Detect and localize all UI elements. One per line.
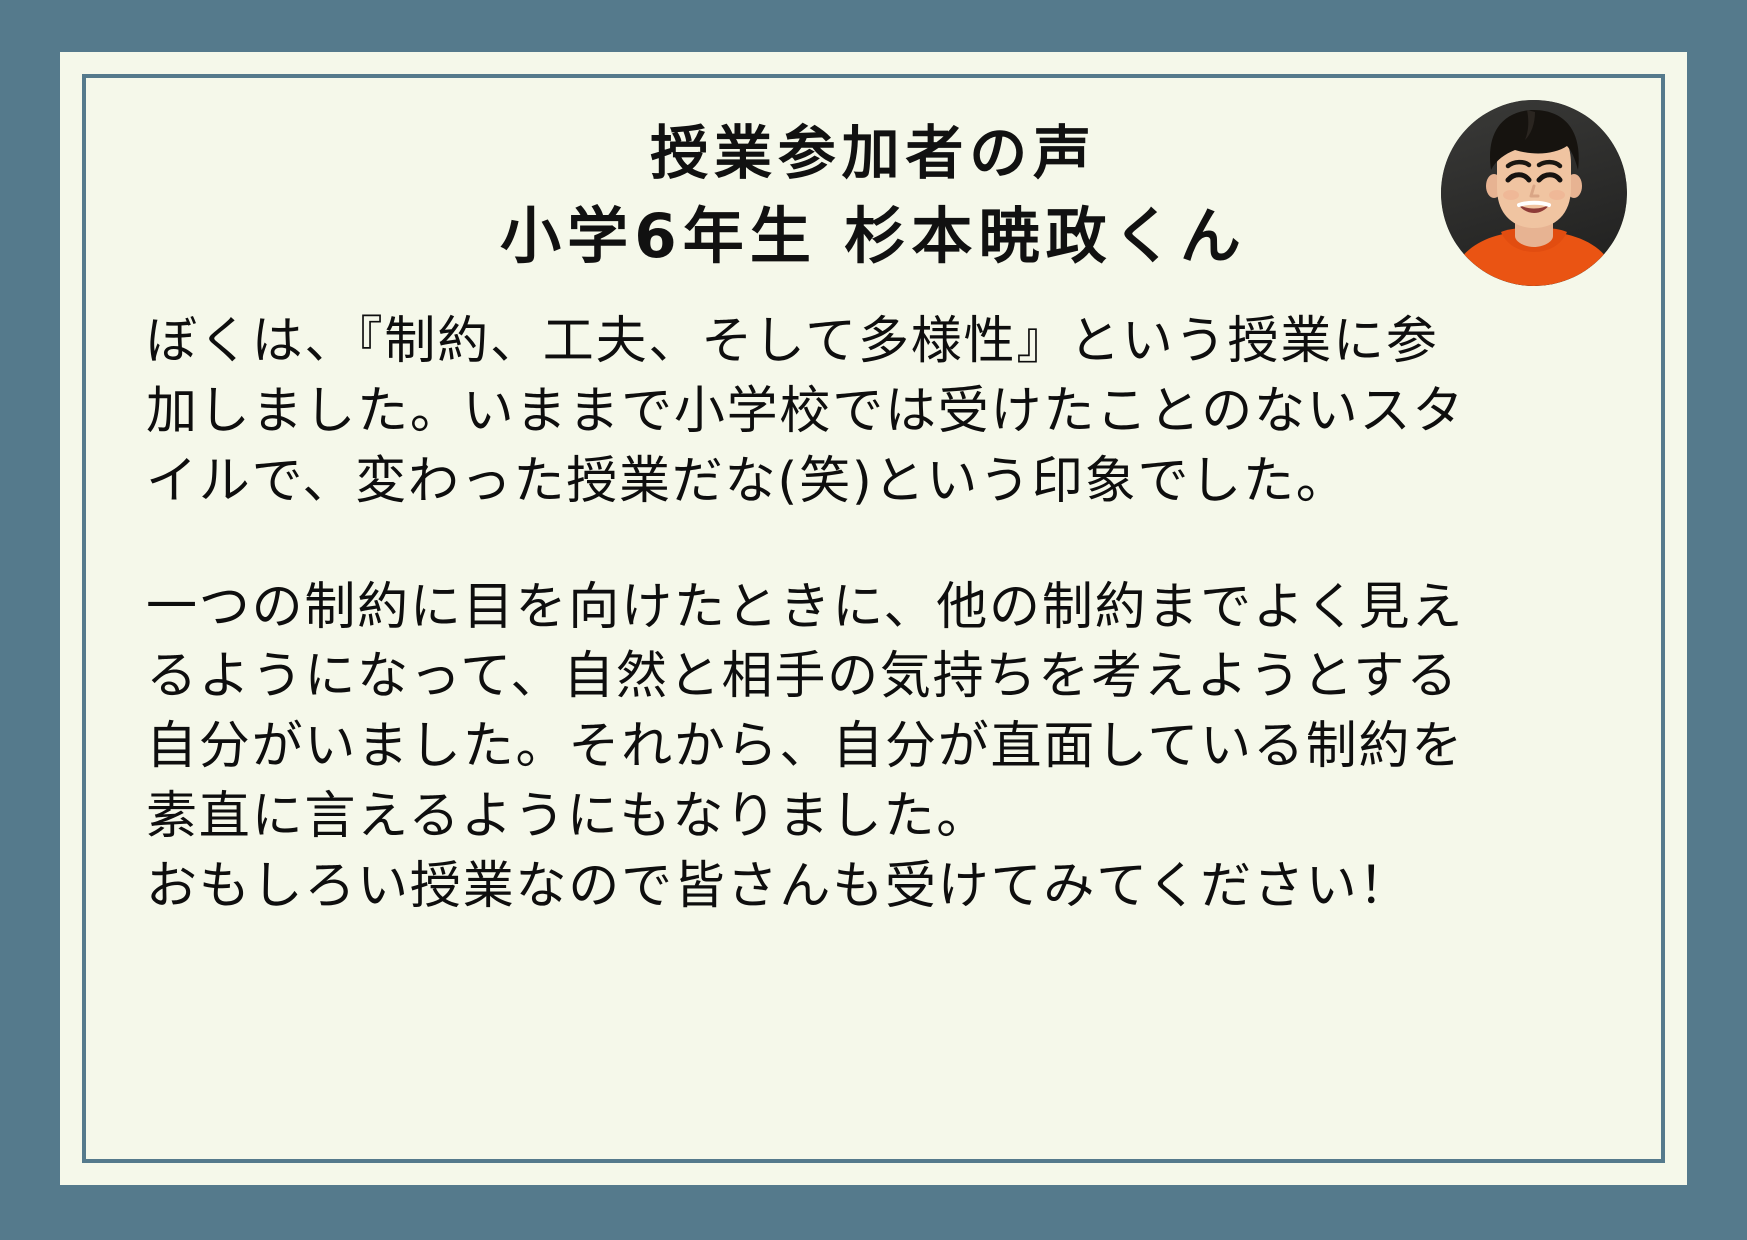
card-outer: 授業参加者の声 小学6年生 杉本暁政くん [60, 52, 1687, 1185]
card-inner: 授業参加者の声 小学6年生 杉本暁政くん [82, 74, 1665, 1163]
paragraph-1-line-2: 加しました。いままで小学校では受けたことのないスタ [146, 377, 1609, 447]
paragraph-2-line-5: おもしろい授業なので皆さんも受けてみてください！ [146, 852, 1609, 922]
testimonial-poster: 授業参加者の声 小学6年生 杉本暁政くん [0, 0, 1747, 1240]
poster-header: 授業参加者の声 小学6年生 杉本暁政くん [134, 104, 1613, 281]
testimonial-body: ぼくは、『制約、工夫、そして多様性』という授業に参 加しました。いままで小学校で… [134, 307, 1613, 922]
avatar-portrait-icon [1441, 100, 1627, 286]
page-title: 授業参加者の声 [134, 112, 1613, 194]
testimonial-paragraph-1: ぼくは、『制約、工夫、そして多様性』という授業に参 加しました。いままで小学校で… [146, 307, 1609, 517]
paragraph-1-line-1: ぼくは、『制約、工夫、そして多様性』という授業に参 [146, 307, 1609, 377]
paragraph-2-line-3: 自分がいました。それから、自分が直面している制約を [146, 712, 1609, 782]
paragraph-2-line-4: 素直に言えるようにもなりました。 [146, 782, 1609, 852]
paragraph-2-line-1: 一つの制約に目を向けたときに、他の制約までよく見え [146, 573, 1609, 643]
avatar [1441, 100, 1627, 286]
testimonial-paragraph-2: 一つの制約に目を向けたときに、他の制約までよく見え るようになって、自然と相手の… [146, 573, 1609, 922]
paragraph-1-line-3: イルで、変わった授業だな(笑)という印象でした。 [146, 447, 1609, 517]
paragraph-2-line-2: るようになって、自然と相手の気持ちを考えようとする [146, 642, 1609, 712]
page-subtitle: 小学6年生 杉本暁政くん [134, 194, 1613, 281]
